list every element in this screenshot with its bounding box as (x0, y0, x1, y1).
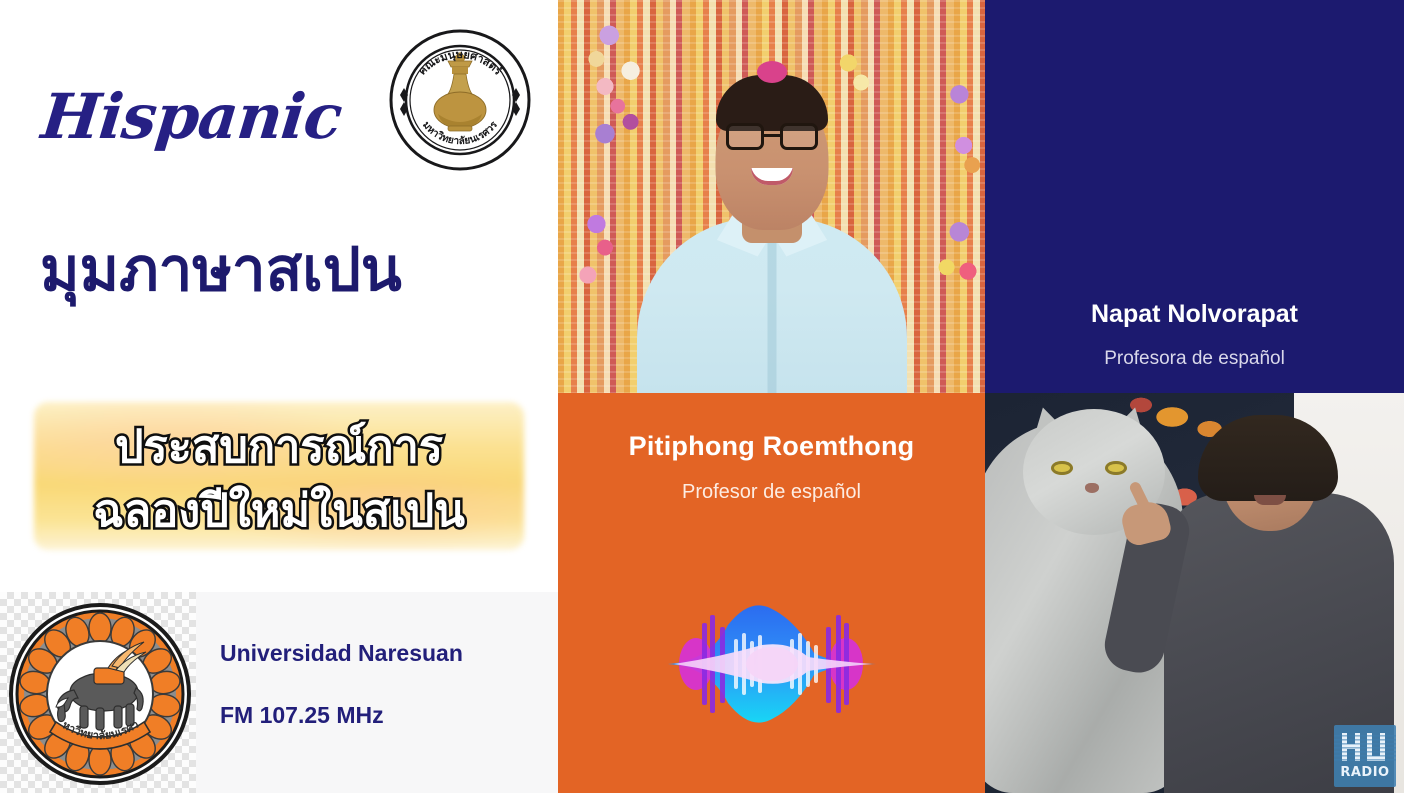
host-photo-napat: RADIO (985, 393, 1404, 793)
host-name-panel-orange: Pitiphong Roemthong Profesor de español (558, 393, 985, 793)
left-branding-column: Hispanic (0, 0, 558, 793)
right-host-column: Napat Nolvorapat Profesora de español (985, 0, 1404, 793)
svg-text:RADIO: RADIO (1340, 765, 1389, 780)
thai-subtitle-line-1: ประสบการณ์การ (24, 410, 534, 482)
thai-subtitle-block: ประสบการณ์การ ฉลองปีใหม่ในสเปน (24, 396, 534, 556)
smile (1254, 495, 1286, 505)
hu-radio-logo-icon: RADIO (1334, 725, 1396, 787)
host-name-napat: Napat Nolvorapat (985, 300, 1404, 329)
audio-waveform-icon (650, 601, 893, 727)
thai-subtitle-line-2: ฉลองปีใหม่ในสเปน (24, 474, 534, 546)
host-name-pitiphong: Pitiphong Roemthong (558, 431, 985, 462)
station-text-group: Universidad Naresuan FM 107.25 MHz (220, 640, 540, 729)
cat-eye-right (1105, 461, 1127, 475)
cat-eye-left (1051, 461, 1073, 475)
naresuan-university-seal-icon: มหาวิทยาลัยนเรศวร (8, 602, 192, 786)
thai-program-title: มุมภาษาสเปน (40, 236, 520, 303)
pink-decoration (757, 61, 787, 83)
host-role-pitiphong: Profesor de español (558, 481, 985, 504)
shirt-placket (767, 233, 776, 393)
faculty-of-humanities-seal-icon: คณะมนุษยศาสตร์ มหาวิทยาลัยนเรศวร (388, 28, 532, 172)
eyeglasses-icon (726, 123, 818, 150)
hispanic-wordmark: Hispanic (37, 72, 336, 162)
middle-host-column: Pitiphong Roemthong Profesor de español (558, 0, 985, 793)
host-name-panel-navy: Napat Nolvorapat Profesora de español (985, 0, 1404, 393)
cat-nose (1085, 483, 1099, 493)
poster-canvas: Hispanic (0, 0, 1404, 793)
host-role-napat: Profesora de español (985, 348, 1404, 370)
station-frequency: FM 107.25 MHz (220, 702, 540, 730)
host-photo-pitiphong (558, 0, 985, 393)
station-university-name: Universidad Naresuan (220, 640, 540, 668)
